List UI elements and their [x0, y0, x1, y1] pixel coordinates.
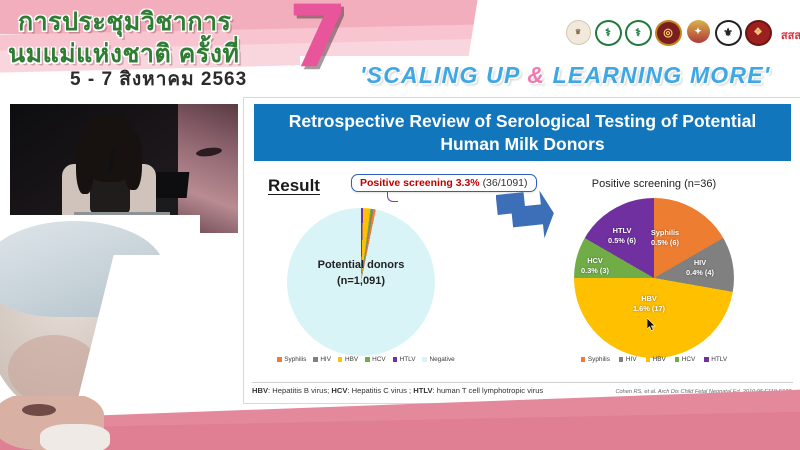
- video-baby-closeup-overlay: [178, 104, 238, 233]
- callout-leader-line: [387, 192, 398, 202]
- legend-swatch-htlv: [393, 357, 398, 362]
- legend-label: HIV: [320, 356, 331, 363]
- conference-tagline: 'SCALING UP & LEARNING MORE': [360, 62, 770, 89]
- slice-label-hcv: HCV 0.3% (3): [574, 256, 616, 276]
- footer-baby-mouth: [22, 404, 56, 416]
- legend-item: HIV: [619, 356, 637, 363]
- garuda-seal-icon: ⚜: [715, 20, 742, 46]
- slice-label-hbv-name: HBV: [641, 294, 657, 303]
- positive-screening-chart-title: Positive screening (n=36): [554, 178, 754, 190]
- tagline-part2: LEARNING MORE': [545, 62, 770, 88]
- sponsor-logo-3-caption: [638, 47, 639, 50]
- legend-label: HIV: [626, 356, 637, 363]
- ministry-crest-icon: ✦: [687, 20, 710, 43]
- conference-date-thai: 5 - 7 สิงหาคม 2563: [70, 64, 247, 94]
- sponsor-logo-7-caption: [758, 47, 759, 50]
- abbr-htlv: HTLV: [413, 386, 432, 395]
- royal-emblem-icon: ♛: [566, 20, 591, 45]
- legend-item: HBV: [338, 356, 358, 363]
- abbr-hbv-def: : Hepatitis B virus;: [268, 386, 331, 395]
- legend-label: Syphilis: [284, 356, 306, 363]
- callout-highlight-text: Positive screening 3.3%: [360, 177, 480, 189]
- abbr-hbv: HBV: [252, 386, 268, 395]
- tagline-part1: 'SCALING UP: [360, 62, 527, 88]
- sponsor-logo-2-caption: [608, 47, 609, 50]
- positive-screening-pie-chart: [574, 198, 734, 358]
- legend-label: HCV: [372, 356, 386, 363]
- sponsor-logo-1-caption: [578, 46, 579, 49]
- slide-title: Retrospective Review of Serological Test…: [254, 104, 791, 161]
- legend-label: Negative: [429, 356, 454, 363]
- legend-swatch-hcv: [365, 357, 370, 362]
- footer-baby-photo: [0, 396, 120, 450]
- slice-label-hbv: HBV 1.6% (17): [622, 294, 676, 314]
- sponsor-logo-6: ⚜: [716, 20, 740, 50]
- legend-item: HCV: [365, 356, 386, 363]
- slice-label-htlv-value: 0.5% (6): [608, 236, 636, 245]
- slice-label-hcv-value: 0.3% (3): [581, 266, 609, 275]
- potential-donors-subtitle: (n=1,091): [287, 274, 435, 290]
- legend-label: HTLV: [711, 356, 727, 363]
- legend-swatch-htlv: [704, 357, 709, 362]
- sponsor-logo-4: ◎: [656, 20, 680, 50]
- sponsor-logo-3: ⚕: [626, 20, 650, 50]
- legend-item: HCV: [675, 356, 696, 363]
- legend-swatch-syphilis: [277, 357, 282, 362]
- legend-item: HBV: [646, 356, 666, 363]
- legend-label: HTLV: [400, 356, 416, 363]
- abbr-hcv-def: : Hepatitis C virus ;: [347, 386, 413, 395]
- positive-screening-legend: Syphilis HIV HBV HCV HTLV: [554, 356, 754, 363]
- conference-edition-number: 7: [288, 0, 348, 80]
- sponsor-logo-5-caption: [698, 44, 699, 47]
- slice-label-hiv: HIV 0.4% (4): [678, 258, 722, 278]
- mouse-cursor-icon: [647, 318, 656, 331]
- legend-label: Syphilis: [588, 356, 610, 363]
- sponsor-logo-7: ❖: [746, 20, 770, 50]
- legend-item: Syphilis: [581, 356, 610, 363]
- footer-baby-blanket: [40, 424, 110, 450]
- health-cross-icon: ⚕: [595, 20, 622, 46]
- speaker-video-inset[interactable]: [10, 104, 238, 233]
- slice-label-hcv-name: HCV: [587, 256, 603, 265]
- callout-detail-text: (36/1091): [483, 177, 528, 189]
- legend-item: HTLV: [704, 356, 727, 363]
- abbr-htlv-def: : human T cell lymphotropic virus: [433, 386, 544, 395]
- slice-label-htlv-name: HTLV: [613, 226, 632, 235]
- presentation-screenshot: การประชุมวิชาการ นมแม่แห่งชาติ ครั้งที่ …: [0, 0, 800, 450]
- slice-label-syphilis-name: Syphilis: [651, 228, 679, 237]
- legend-item: HIV: [313, 356, 331, 363]
- potential-donors-legend: Syphilis HIV HBV HCV HTLV Negative: [276, 356, 456, 363]
- sponsor-logo-2: ⚕: [596, 20, 620, 50]
- legend-label: HBV: [345, 356, 358, 363]
- abbr-hcv: HCV: [331, 386, 347, 395]
- sss-foundation-logo: สสส: [776, 24, 800, 46]
- flow-arrow-icon: [496, 190, 556, 242]
- potential-donors-title: Potential donors: [287, 258, 435, 274]
- royal-red-seal-icon: ❖: [745, 20, 772, 46]
- slice-label-hiv-name: HIV: [694, 258, 706, 267]
- legend-swatch-syphilis: [581, 357, 586, 362]
- result-section-label: Result: [268, 176, 320, 196]
- slice-label-syphilis-value: 0.5% (6): [651, 238, 679, 247]
- sponsor-logo-4-caption: [668, 47, 669, 50]
- legend-label: HCV: [682, 356, 696, 363]
- conference-header-banner: การประชุมวิชาการ นมแม่แห่งชาติ ครั้งที่ …: [0, 0, 800, 95]
- university-seal-icon: ◎: [655, 20, 682, 46]
- legend-swatch-hbv: [338, 357, 343, 362]
- legend-swatch-hiv: [619, 357, 624, 362]
- legend-item: HTLV: [393, 356, 416, 363]
- slide-content: Retrospective Review of Serological Test…: [243, 97, 800, 404]
- potential-donors-center-label: Potential donors (n=1,091): [287, 258, 435, 290]
- legend-swatch-negative: [422, 357, 427, 362]
- slice-label-hbv-value: 1.6% (17): [633, 304, 665, 313]
- legend-swatch-hcv: [675, 357, 680, 362]
- sponsor-logos-row: ♛ ⚕ ⚕ ◎ ✦ ⚜: [566, 20, 800, 50]
- sponsor-logo-1: ♛: [566, 20, 590, 50]
- sponsor-logo-6-caption: [728, 47, 729, 50]
- legend-swatch-hiv: [313, 357, 318, 362]
- legend-label: HBV: [653, 356, 666, 363]
- tagline-ampersand: &: [527, 62, 545, 88]
- slice-label-htlv: HTLV 0.5% (6): [599, 226, 645, 246]
- slice-label-hiv-value: 0.4% (4): [686, 268, 714, 277]
- legend-swatch-hbv: [646, 357, 651, 362]
- health-cross-alt-icon: ⚕: [625, 20, 652, 46]
- legend-item: Negative: [422, 356, 454, 363]
- legend-item: Syphilis: [277, 356, 306, 363]
- sponsor-logo-5: ✦: [686, 20, 710, 50]
- abbreviation-definitions: HBV: Hepatitis B virus; HCV: Hepatitis C…: [252, 386, 543, 395]
